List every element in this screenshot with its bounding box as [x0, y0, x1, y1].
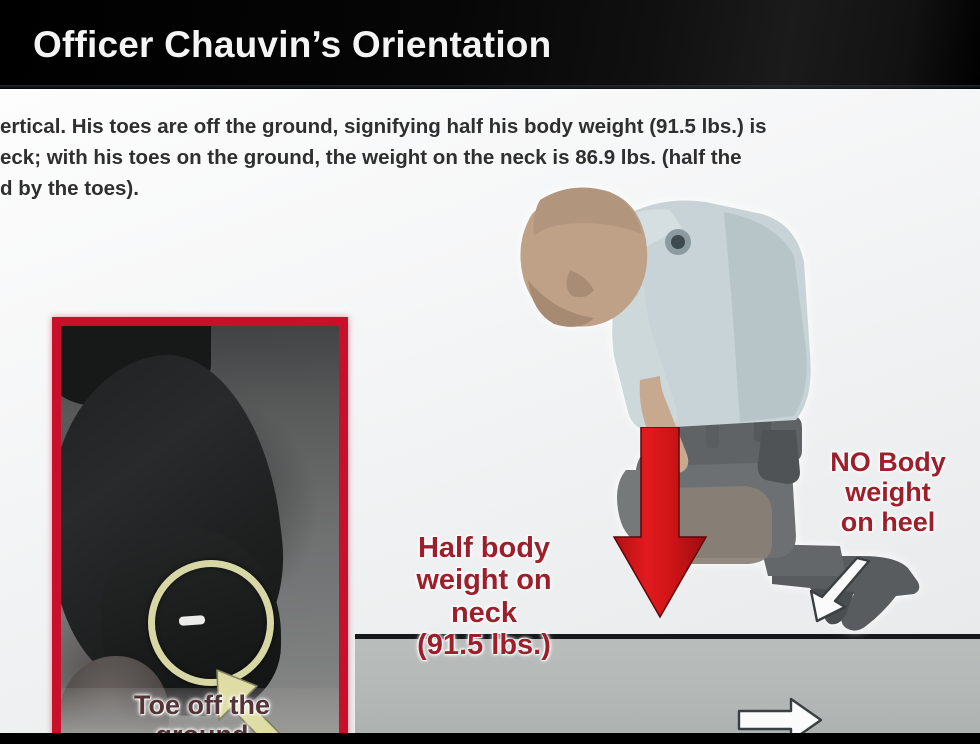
photo-caption-line-1: Toe off the — [71, 691, 333, 721]
red-down-arrow-icon — [612, 427, 708, 620]
callout-neck-weight: Half body weight on neck (91.5 lbs.) — [378, 532, 590, 662]
callout-neck-line-3: neck — [378, 597, 590, 629]
page-title: Officer Chauvin’s Orientation — [33, 24, 551, 66]
photo-inset-image: Toe off the ground — [61, 326, 339, 744]
callout-heel-line-2: weight — [798, 477, 978, 507]
body-paragraph-line-1: ertical. His toes are off the ground, si… — [0, 111, 930, 142]
photo-inset-frame: Toe off the ground — [52, 317, 348, 744]
body-paragraph-line-2: eck; with his toes on the ground, the we… — [0, 142, 930, 173]
callout-neck-line-2: weight on — [378, 564, 590, 596]
callout-heel-line-1: NO Body — [798, 447, 978, 477]
callout-heel-line-3: on heel — [798, 507, 978, 537]
callout-neck-line-1: Half body — [378, 532, 590, 564]
callout-neck-line-4: (91.5 lbs.) — [378, 629, 590, 661]
slide-canvas: Officer Chauvin’s Orientation ertical. H… — [0, 0, 980, 744]
slide-header-bar: Officer Chauvin’s Orientation — [0, 0, 980, 89]
callout-heel-weight: NO Body weight on heel — [798, 447, 978, 538]
slide-body: ertical. His toes are off the ground, si… — [0, 89, 980, 733]
letterbox-bottom — [0, 733, 980, 744]
heel-pointer-arrow-icon — [805, 557, 875, 629]
